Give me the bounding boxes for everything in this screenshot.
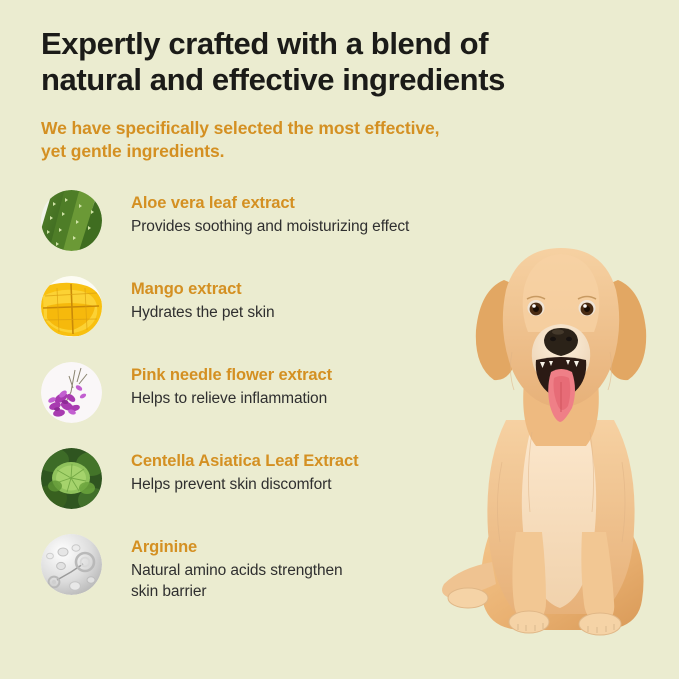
ingredient-description: Natural amino acids strengthen skin barr…: [131, 557, 461, 602]
headline-line-2: natural and effective ingredients: [41, 62, 505, 97]
ingredient-name: Arginine: [131, 537, 461, 557]
ingredient-text: Pink needle flower extract Helps to reli…: [131, 365, 461, 409]
ingredient-list: Aloe vera leaf extract Provides soothing…: [41, 190, 461, 630]
description-line-2: skin barrier: [131, 583, 206, 600]
headline-line-1: Expertly crafted with a blend of: [41, 26, 488, 61]
list-item: Centella Asiatica Leaf Extract Helps pre…: [41, 448, 461, 534]
ingredients-infographic: Expertly crafted with a blend of natural…: [0, 0, 679, 679]
list-item: Arginine Natural amino acids strengthen …: [41, 534, 461, 630]
aloe-vera-icon: [41, 190, 102, 251]
ingredient-name: Pink needle flower extract: [131, 365, 461, 385]
ingredient-name: Aloe vera leaf extract: [131, 193, 461, 213]
heading-block: Expertly crafted with a blend of natural…: [41, 26, 631, 163]
ingredient-description: Helps to relieve inflammation: [131, 385, 461, 409]
subtitle-line-2: yet gentle ingredients.: [41, 141, 224, 161]
ingredient-name: Mango extract: [131, 279, 461, 299]
mango-icon: [41, 276, 102, 337]
ingredient-text: Centella Asiatica Leaf Extract Helps pre…: [131, 451, 461, 495]
list-item: Aloe vera leaf extract Provides soothing…: [41, 190, 461, 276]
ingredient-text: Mango extract Hydrates the pet skin: [131, 279, 461, 323]
subtitle-line-1: We have specifically selected the most e…: [41, 118, 439, 138]
ingredient-description: Helps prevent skin discomfort: [131, 471, 461, 495]
page-subtitle: We have specifically selected the most e…: [41, 98, 631, 163]
ingredient-name: Centella Asiatica Leaf Extract: [131, 451, 461, 471]
list-item: Pink needle flower extract Helps to reli…: [41, 362, 461, 448]
ingredient-description: Hydrates the pet skin: [131, 299, 461, 323]
arginine-molecule-icon: [41, 534, 102, 595]
centella-asiatica-icon: [41, 448, 102, 509]
ingredient-description: Provides soothing and moisturizing effec…: [131, 213, 461, 237]
pink-needle-flower-icon: [41, 362, 102, 423]
golden-retriever-photo: [432, 232, 679, 652]
ingredient-text: Arginine Natural amino acids strengthen …: [131, 537, 461, 602]
list-item: Mango extract Hydrates the pet skin: [41, 276, 461, 362]
description-line-1: Natural amino acids strengthen: [131, 562, 343, 579]
page-title: Expertly crafted with a blend of natural…: [41, 26, 631, 98]
ingredient-text: Aloe vera leaf extract Provides soothing…: [131, 193, 461, 237]
